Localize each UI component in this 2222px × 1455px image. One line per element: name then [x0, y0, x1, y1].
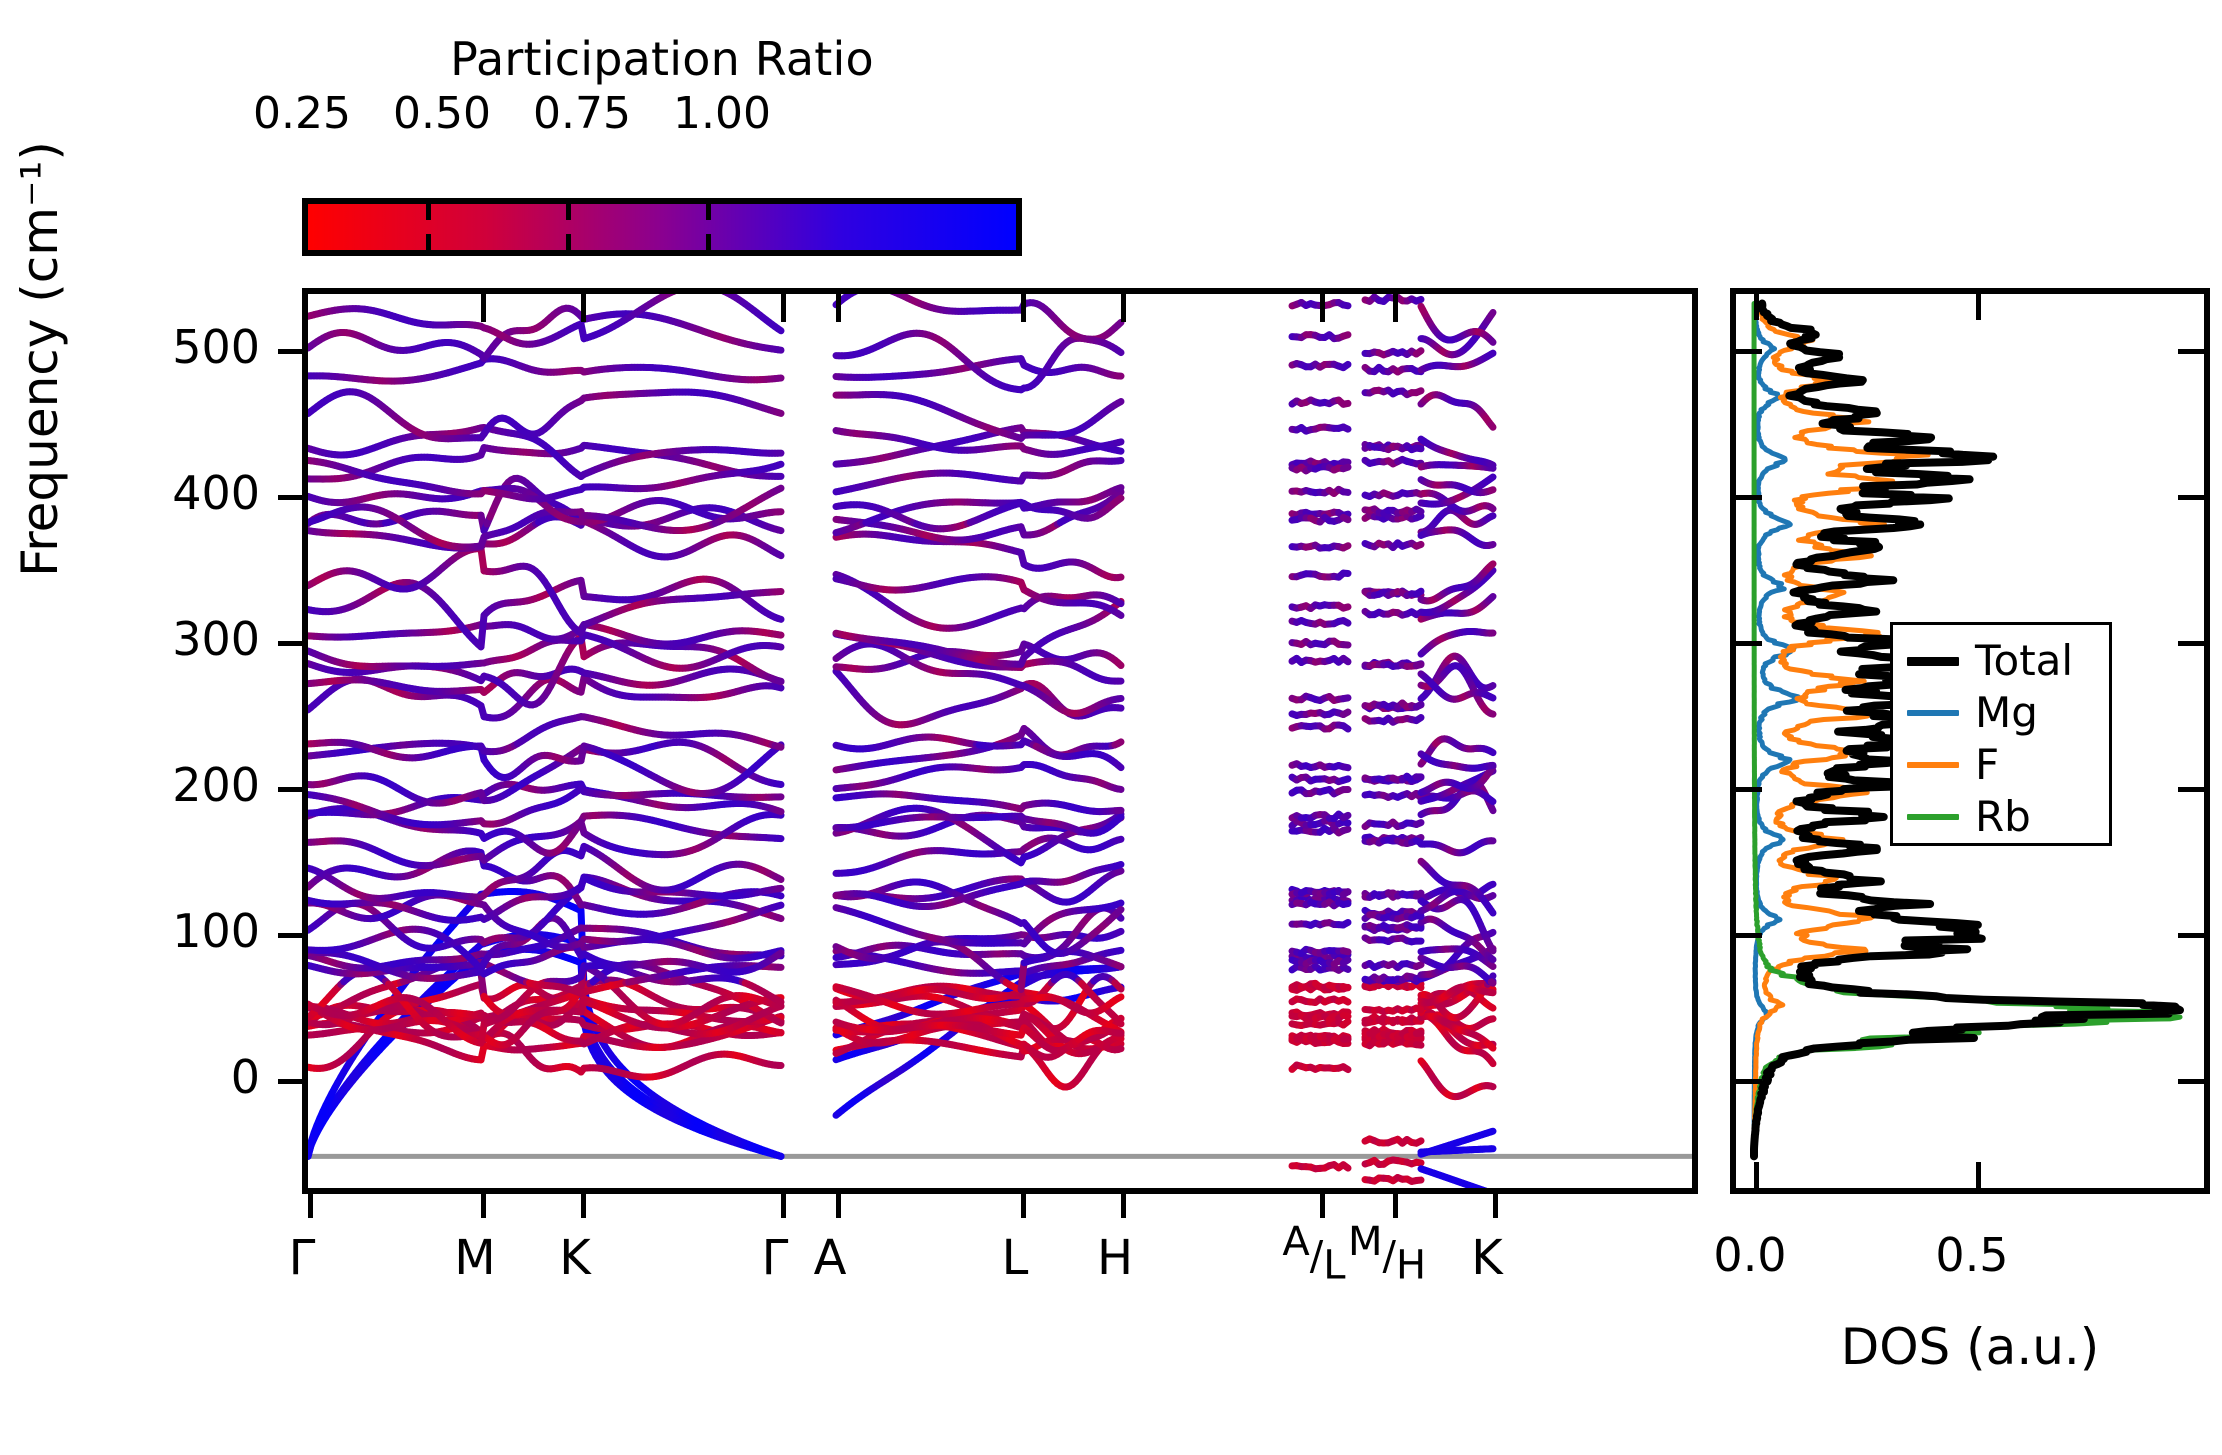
colorbar-tick-label: 0.25 — [222, 88, 382, 139]
legend-swatch-rb — [1907, 814, 1959, 820]
dos-y-tick-right — [2178, 933, 2204, 938]
legend-item-rb[interactable]: Rb — [1893, 791, 2109, 843]
legend-label-total: Total — [1975, 640, 2073, 682]
y-axis-tick — [278, 495, 308, 500]
y-axis-tick-label: 0 — [60, 1050, 260, 1104]
x-axis-tick-top — [836, 294, 841, 322]
dos-x-tick — [1754, 1162, 1759, 1188]
x-axis-tick-top — [581, 294, 586, 322]
dos-y-tick-right — [2178, 349, 2204, 354]
x-axis-label-gamma-1: Γ — [212, 1230, 392, 1286]
y-axis-tick-label: 500 — [60, 320, 260, 374]
x-axis-tick — [1493, 1188, 1498, 1218]
dos-y-tick — [1736, 641, 1762, 646]
x-axis-tick-top — [1021, 294, 1026, 322]
y-axis-tick-label: 100 — [60, 904, 260, 958]
x-axis-label-k-1: K — [485, 1230, 665, 1286]
colorbar-tick — [706, 204, 711, 220]
phonon-figure: Participation Ratio 0.25 0.50 0.75 1.00 — [0, 0, 2222, 1455]
legend-label-f: F — [1975, 744, 1999, 786]
y-axis-tick — [278, 787, 308, 792]
x-axis-tick-top — [1393, 294, 1398, 322]
dos-x-tick — [1976, 1162, 1981, 1188]
participation-ratio-colorbar[interactable] — [302, 198, 1022, 256]
x-axis-label-a: A — [740, 1230, 920, 1286]
x-axis-tick — [1021, 1188, 1026, 1218]
x-axis-tick — [581, 1188, 586, 1218]
dos-y-tick-right — [2178, 495, 2204, 500]
y-axis-tick — [278, 933, 308, 938]
legend-item-f[interactable]: F — [1893, 739, 2109, 791]
x-axis-tick — [1320, 1188, 1325, 1218]
x-axis-tick-top — [781, 294, 786, 322]
dos-x-tick-top — [1976, 294, 1981, 320]
x-axis-tick-top — [1320, 294, 1325, 322]
y-axis-title: Frequency (cm⁻¹) — [11, 0, 69, 729]
dos-y-tick — [1736, 787, 1762, 792]
dos-y-tick — [1736, 495, 1762, 500]
x-axis-tick-top — [481, 294, 486, 322]
colorbar-tick — [426, 234, 431, 250]
colorbar-gradient — [302, 198, 1022, 256]
band-structure-plot — [308, 294, 1692, 1188]
y-axis-tick-label: 200 — [60, 758, 260, 812]
colorbar-tick — [566, 234, 571, 250]
dos-y-tick-right — [2178, 787, 2204, 792]
colorbar-tick-label: 1.00 — [642, 88, 802, 139]
dos-y-tick-right — [2178, 1079, 2204, 1084]
legend-item-total[interactable]: Total — [1893, 635, 2109, 687]
y-axis-tick — [278, 641, 308, 646]
dos-x-tick-label: 0.5 — [1872, 1228, 2072, 1282]
dos-y-tick — [1736, 1079, 1762, 1084]
colorbar-tick — [426, 204, 431, 220]
colorbar-tick — [706, 234, 711, 250]
legend-label-mg: Mg — [1975, 692, 2038, 734]
colorbar-tick-label: 0.50 — [362, 88, 522, 139]
band-structure-panel[interactable] — [302, 288, 1698, 1194]
dos-y-tick-right — [2178, 641, 2204, 646]
x-axis-label-h: H — [1025, 1230, 1205, 1286]
colorbar-title: Participation Ratio — [302, 32, 1022, 86]
x-axis-tick — [1393, 1188, 1398, 1218]
y-axis-tick-label: 400 — [60, 466, 260, 520]
legend-item-mg[interactable]: Mg — [1893, 687, 2109, 739]
legend-swatch-f — [1907, 762, 1959, 768]
x-axis-tick — [836, 1188, 841, 1218]
dos-x-tick-top — [1754, 294, 1759, 320]
fraction-numerator: M — [1348, 1219, 1383, 1265]
x-axis-tick — [781, 1188, 786, 1218]
y-axis-tick — [278, 1079, 308, 1084]
x-axis-tick — [481, 1188, 486, 1218]
y-axis-title-text: Frequency (cm⁻¹) — [11, 141, 69, 577]
x-axis-label-k-2: K — [1397, 1230, 1577, 1286]
dos-y-tick — [1736, 933, 1762, 938]
y-axis-tick — [278, 349, 308, 354]
legend-swatch-mg — [1907, 710, 1959, 716]
colorbar-tick-label: 0.75 — [502, 88, 662, 139]
x-axis-tick — [1121, 1188, 1126, 1218]
legend-label-rb: Rb — [1975, 796, 2031, 838]
dos-legend[interactable]: Total Mg F Rb — [1890, 622, 2112, 846]
dos-axis-title: DOS (a.u.) — [1730, 1318, 2210, 1376]
dos-y-tick — [1736, 349, 1762, 354]
y-axis-tick-label: 300 — [60, 612, 260, 666]
legend-swatch-total — [1907, 657, 1959, 666]
colorbar-tick — [566, 204, 571, 220]
x-axis-tick-top — [1121, 294, 1126, 322]
x-axis-tick — [308, 1188, 313, 1218]
dos-x-tick-label: 0.0 — [1650, 1228, 1850, 1282]
